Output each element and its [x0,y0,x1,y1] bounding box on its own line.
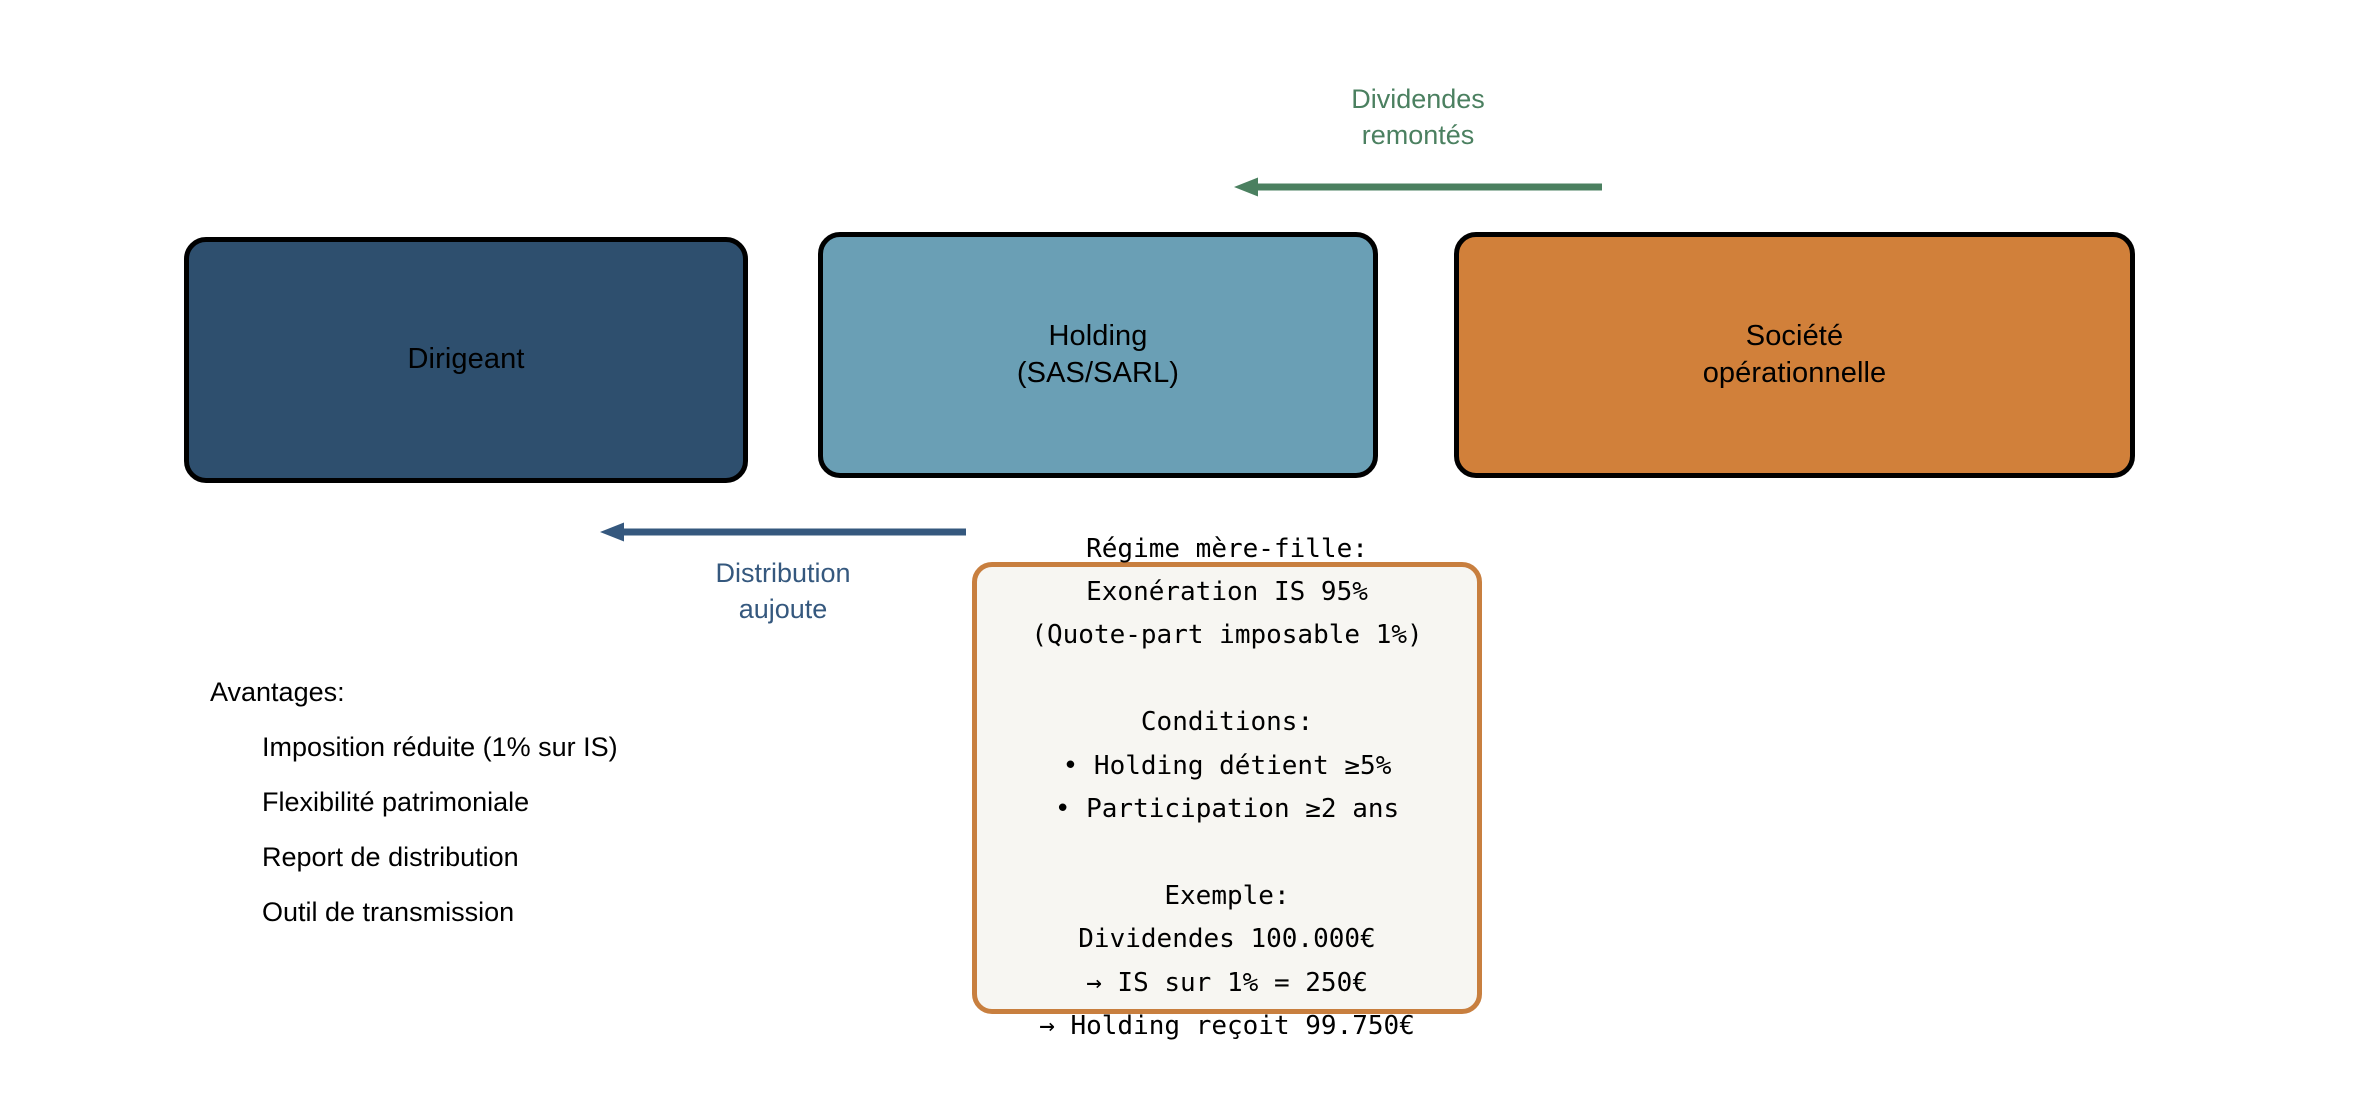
advantages-title: Avantages: [210,677,830,708]
entity-box-societe-operationnelle[interactable]: Société opérationnelle [1454,232,2135,478]
arrow-distribution-aujoute [594,521,974,543]
entity-box-dirigeant[interactable]: Dirigeant [184,237,748,483]
advantages-section: Avantages: Imposition réduite (1% sur IS… [210,677,830,928]
arrow-label-distribution-aujoute: Distribution aujoute [600,556,966,628]
entity-label-holding: Holding (SAS/SARL) [1017,318,1179,392]
entity-box-holding[interactable]: Holding (SAS/SARL) [818,232,1378,478]
diagram-canvas: Dividendes remontés Dirigeant Holding (S… [0,0,2364,1114]
entity-label-societe-operationnelle: Société opérationnelle [1703,318,1887,392]
info-box-regime-mere-fille: Régime mère-fille: Exonération IS 95% (Q… [972,562,1482,1014]
arrow-head [1234,178,1258,197]
advantage-item: Imposition réduite (1% sur IS) [262,732,830,763]
entity-label-dirigeant: Dirigeant [408,341,525,378]
advantage-item: Outil de transmission [262,897,830,928]
arrow-label-dividendes-remontes: Dividendes remontés [1234,82,1602,154]
info-box-text: Régime mère-fille: Exonération IS 95% (Q… [1031,528,1422,1049]
advantage-item: Report de distribution [262,842,830,873]
arrow-head [600,523,624,542]
arrow-dividendes-remontes [1228,176,1608,198]
advantage-item: Flexibilité patrimoniale [262,787,830,818]
